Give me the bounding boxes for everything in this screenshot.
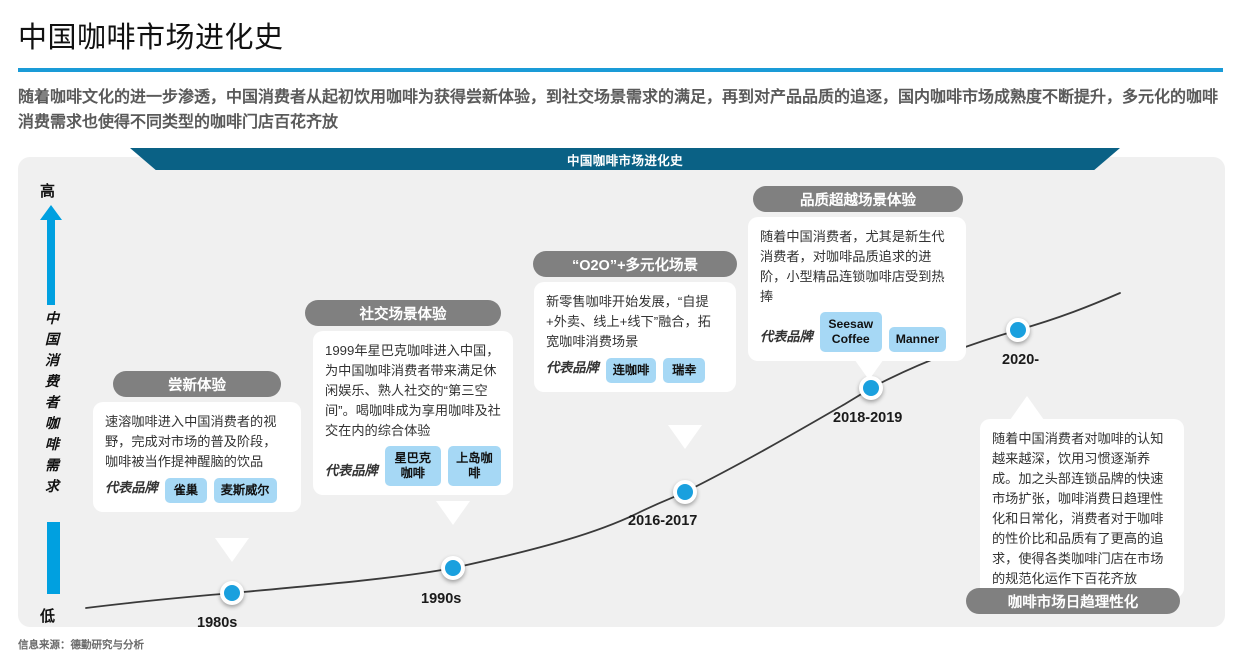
callout-card-2: 1999年星巴克咖啡进入中国，为中国咖啡消费者带来满足休闲娱乐、熟人社交的“第三… [313, 331, 513, 495]
brand-chip-seesaw[interactable]: Seesaw Coffee [820, 312, 882, 352]
brand-chip-coffeebox[interactable]: 连咖啡 [606, 358, 657, 383]
callout-tail-5 [1010, 396, 1044, 420]
brand-row-2: 代表品牌 星巴克咖啡 上岛咖啡 [325, 446, 501, 486]
brand-row-3: 代表品牌 连咖啡 瑞幸 [546, 357, 724, 383]
brand-label-3: 代表品牌 [546, 357, 599, 383]
callout-pill-label-3: “O2O”+多元化场景 [572, 254, 698, 275]
callout-body-2: 1999年星巴克咖啡进入中国，为中国咖啡消费者带来满足休闲娱乐、熟人社交的“第三… [325, 341, 501, 441]
brand-chip-maxwell[interactable]: 麦斯威尔 [214, 478, 277, 503]
callout-pill-label-2: 社交场景体验 [360, 303, 447, 324]
brand-label-2: 代表品牌 [325, 460, 378, 486]
callout-body-3: 新零售咖啡开始发展，“自提+外卖、线上+线下”融合，拓宽咖啡消费场景 [546, 292, 724, 352]
axis-high-label: 高 [40, 180, 55, 201]
callout-pill-2[interactable]: 社交场景体验 [305, 300, 501, 326]
slide-canvas: 中国咖啡市场进化史 随着咖啡文化的进一步渗透，中国消费者从起初饮用咖啡为获得尝新… [0, 0, 1241, 655]
callout-pill-5[interactable]: 咖啡市场日趋理性化 [966, 588, 1180, 614]
milestone-dot-2016-2017[interactable] [673, 480, 697, 504]
brand-label-1: 代表品牌 [105, 477, 158, 503]
source-note: 信息来源：德勤研究与分析 [18, 637, 144, 652]
brand-chip-luckin[interactable]: 瑞幸 [663, 358, 705, 383]
brand-row-1: 代表品牌 雀巢 麦斯威尔 [105, 477, 289, 503]
callout-body-1: 速溶咖啡进入中国消费者的视野，完成对市场的普及阶段，咖啡被当作提神醒脑的饮品 [105, 412, 289, 472]
axis-low-bar [47, 522, 60, 594]
callout-tail-4 [852, 356, 886, 380]
milestone-dot-1990s[interactable] [441, 556, 465, 580]
milestone-dot-2020[interactable] [1006, 318, 1030, 342]
callout-body-5: 随着中国消费者对咖啡的认知越来越深，饮用习惯逐渐养成。加之头部连锁品牌的快速市场… [992, 429, 1172, 589]
page-title: 中国咖啡市场进化史 [18, 14, 284, 56]
title-divider [18, 68, 1223, 72]
year-label-2016-2017: 2016-2017 [628, 513, 697, 529]
callout-pill-3[interactable]: “O2O”+多元化场景 [533, 251, 737, 277]
callout-body-4: 随着中国消费者，尤其是新生代消费者，对咖啡品质追求的进阶，小型精品连锁咖啡店受到… [760, 227, 954, 307]
callout-card-5: 随着中国消费者对咖啡的认知越来越深，饮用习惯逐渐养成。加之头部连锁品牌的快速市场… [980, 419, 1184, 598]
brand-chip-manner[interactable]: Manner [889, 327, 946, 352]
callout-pill-label-1: 尝新体验 [168, 374, 226, 395]
callout-card-4: 随着中国消费者，尤其是新生代消费者，对咖啡品质追求的进阶，小型精品连锁咖啡店受到… [748, 217, 966, 361]
axis-vertical-label: 中国消费者咖啡需求 [40, 308, 64, 497]
callout-card-1: 速溶咖啡进入中国消费者的视野，完成对市场的普及阶段，咖啡被当作提神醒脑的饮品 代… [93, 402, 301, 512]
year-label-2018-2019: 2018-2019 [833, 410, 902, 426]
page-subtitle: 随着咖啡文化的进一步渗透，中国消费者从起初饮用咖啡为获得尝新体验，到社交场景需求… [18, 85, 1228, 135]
axis-low-label: 低 [40, 605, 55, 626]
callout-pill-label-4: 品质超越场景体验 [800, 189, 916, 210]
year-label-2020: 2020- [1002, 352, 1039, 368]
year-label-1980s: 1980s [197, 615, 237, 631]
callout-tail-2 [436, 501, 470, 525]
callout-tail-3 [668, 425, 702, 449]
brand-row-4: 代表品牌 Seesaw Coffee Manner [760, 312, 954, 352]
chart-banner: 中国咖啡市场进化史 [130, 148, 1120, 170]
callout-pill-4[interactable]: 品质超越场景体验 [753, 186, 963, 212]
callout-pill-label-5: 咖啡市场日趋理性化 [1008, 591, 1139, 612]
brand-chip-ubc[interactable]: 上岛咖啡 [448, 446, 501, 486]
chart-banner-label: 中国咖啡市场进化史 [567, 150, 683, 169]
callout-card-3: 新零售咖啡开始发展，“自提+外卖、线上+线下”融合，拓宽咖啡消费场景 代表品牌 … [534, 282, 736, 392]
brand-chip-nestle[interactable]: 雀巢 [165, 478, 207, 503]
callout-tail-1 [215, 538, 249, 562]
brand-chip-starbucks[interactable]: 星巴克咖啡 [385, 446, 441, 486]
year-label-1990s: 1990s [421, 591, 461, 607]
brand-label-4: 代表品牌 [760, 326, 813, 352]
milestone-dot-1980s[interactable] [220, 581, 244, 605]
up-arrow-icon [40, 205, 62, 305]
callout-pill-1[interactable]: 尝新体验 [113, 371, 281, 397]
